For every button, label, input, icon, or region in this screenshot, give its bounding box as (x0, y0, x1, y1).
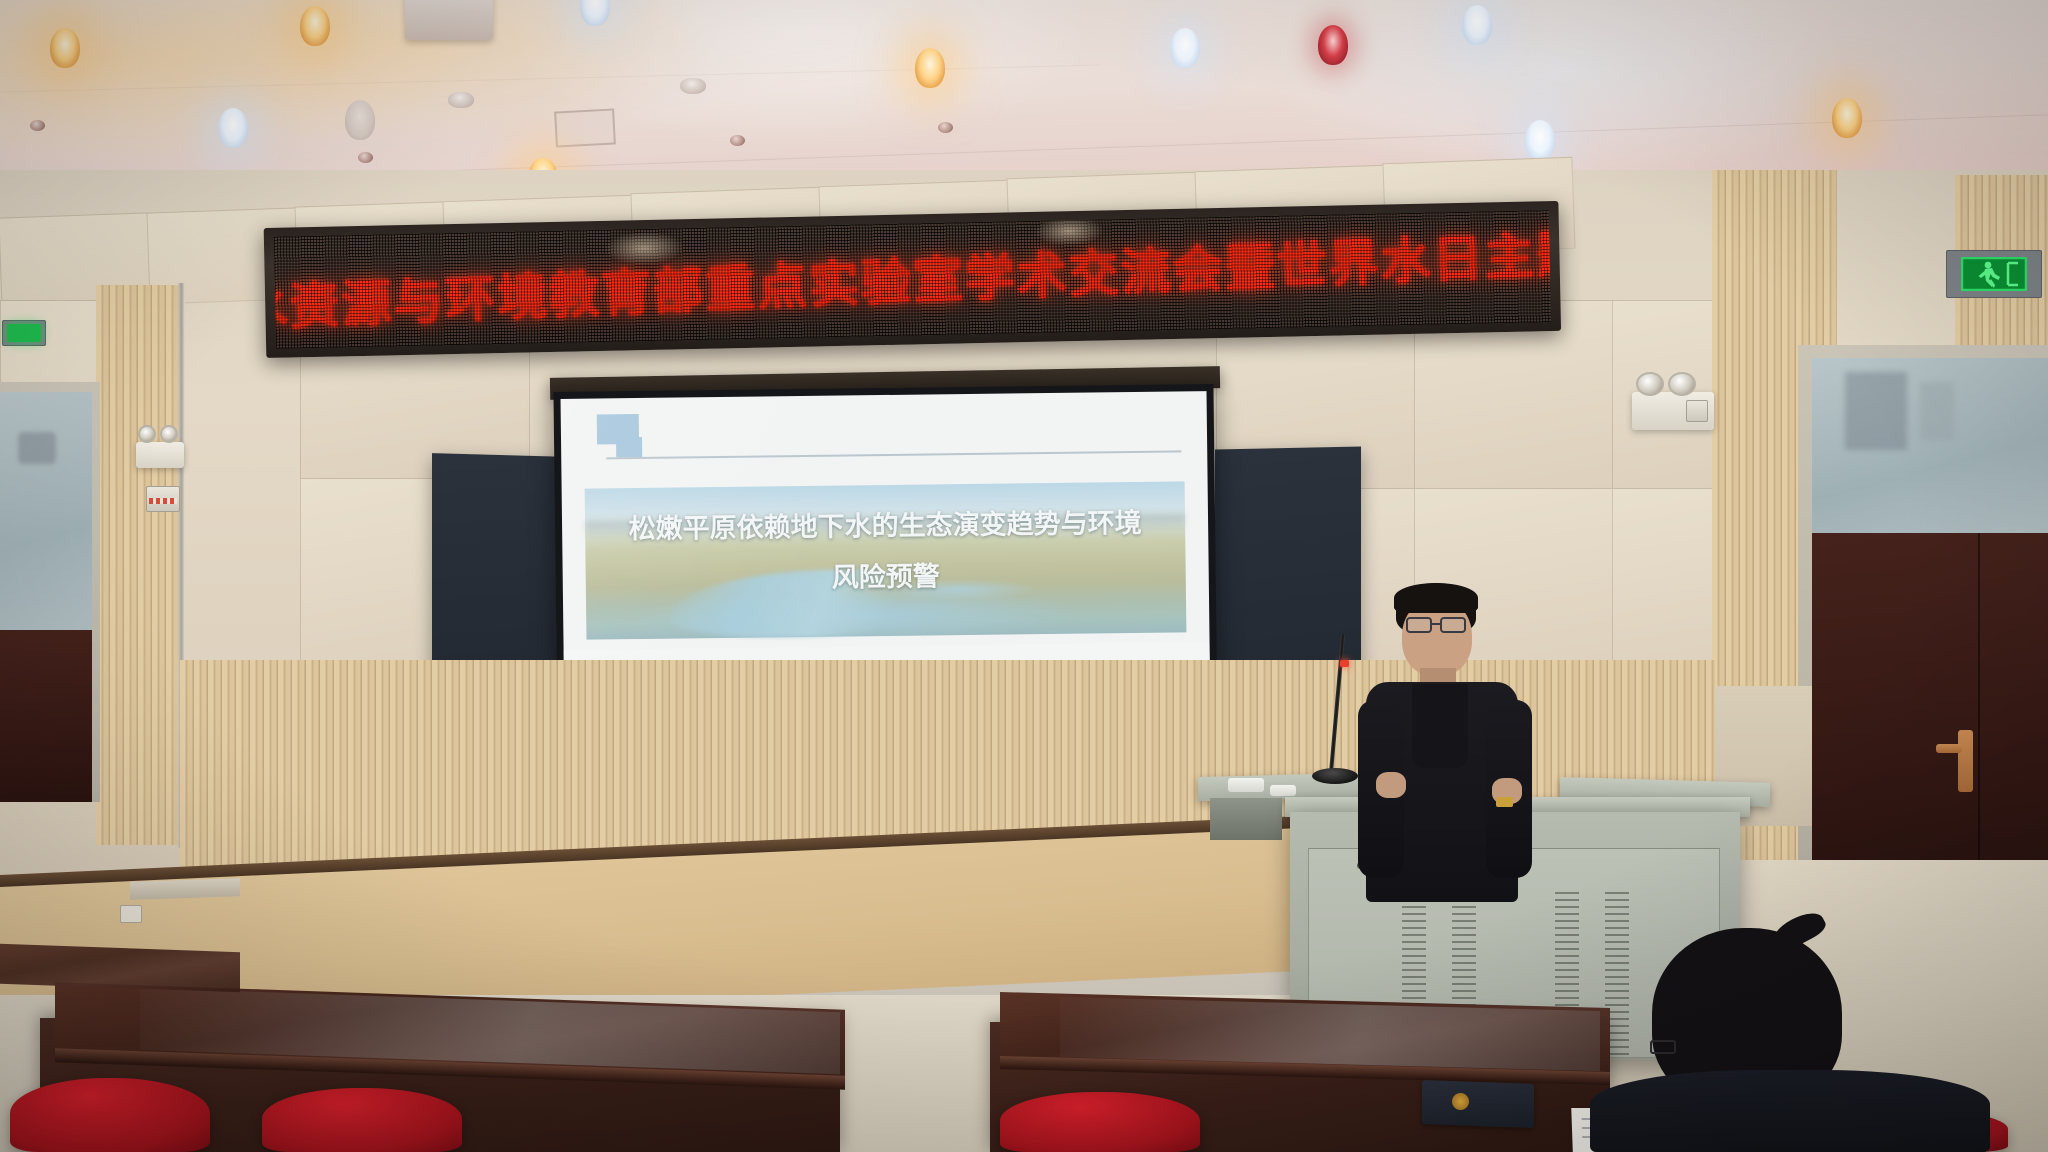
lecture-hall-photo: 地下水资源与环境教育部重点实验室学术交流会暨世界水日主题活动 松嫩平原依赖地下水… (0, 0, 2048, 1152)
right-door-panel[interactable] (1812, 533, 2048, 865)
emergency-lamp-right (1668, 372, 1696, 396)
emergency-lamp-left (138, 425, 156, 443)
ceiling-projector-mount (405, 0, 493, 40)
podium-keyboard-tray-left[interactable] (1210, 798, 1282, 840)
audience-chair[interactable] (262, 1088, 462, 1152)
slide-title-line-2: 风险预警 (562, 548, 1209, 607)
audience-chair[interactable] (10, 1078, 210, 1152)
led-banner: 地下水资源与环境教育部重点实验室学术交流会暨世界水日主题活动 (264, 201, 1561, 358)
right-door-handle[interactable] (1958, 730, 1973, 792)
exit-icon-left (7, 324, 41, 342)
led-banner-screen: 地下水资源与环境教育部重点实验室学术交流会暨世界水日主题活动 (274, 210, 1551, 349)
wall-socket[interactable] (120, 905, 142, 923)
wall-panel (1612, 488, 1722, 678)
emergency-light-test-panel[interactable] (1686, 400, 1708, 422)
wood-slat-wall-left (96, 285, 182, 845)
presenter-inner-shirt (1412, 684, 1468, 768)
audience-desk-back-left (0, 944, 240, 992)
microphone-indicator-light (1340, 660, 1349, 667)
emergency-light-left (136, 442, 184, 468)
exit-sign-left (2, 320, 46, 346)
ceiling-downlight-off (345, 100, 375, 140)
ceiling-indicator-light (1318, 25, 1348, 65)
presenter-glasses-bridge (1432, 623, 1440, 625)
right-door-silhouette (1845, 372, 1907, 450)
audience-chair[interactable] (1000, 1092, 1200, 1152)
presentation-remote[interactable] (1228, 778, 1264, 792)
microphone-base (1312, 768, 1358, 784)
slide-title-block: 松嫩平原依赖地下水的生态演变趋势与环境 风险预警 (562, 497, 1209, 607)
presenter-hair-top (1394, 583, 1478, 613)
ceiling-downlight-cool (1170, 28, 1200, 68)
attendee-glasses (1650, 1040, 1676, 1054)
control-panel-switches[interactable] (149, 498, 177, 504)
smoke-detector (448, 92, 474, 108)
left-door-glass (0, 392, 92, 632)
stage-step (130, 878, 240, 900)
presenter-left-hand (1376, 772, 1406, 798)
notebook (1422, 1080, 1534, 1128)
ceiling-downlight-warm (1832, 98, 1862, 138)
emergency-lamp-right (1636, 372, 1664, 396)
sprinkler-head (30, 120, 45, 131)
smoke-detector (680, 78, 706, 94)
ceiling-downlight-cool (1462, 5, 1492, 45)
slide-title-line-1: 松嫩平原依赖地下水的生态演变趋势与环境 (562, 497, 1209, 556)
slide-accent-square-small (616, 437, 642, 457)
notebook-emblem (1452, 1093, 1469, 1110)
ceiling-downlight-warm (915, 48, 945, 88)
ceiling-downlight-cool (1525, 120, 1555, 160)
right-door-lever[interactable] (1936, 744, 1962, 753)
ceiling-vent (554, 108, 616, 147)
emergency-lamp-left (160, 425, 178, 443)
ceiling-downlight-cool (218, 108, 248, 148)
right-door-silhouette (1920, 382, 1954, 440)
sprinkler-head (730, 135, 745, 146)
sprinkler-head (938, 122, 953, 133)
left-door-panel (0, 630, 92, 802)
led-banner-text: 地下水资源与环境教育部重点实验室学术交流会暨世界水日主题活动 (274, 210, 1551, 345)
presenter-held-object (1496, 797, 1513, 807)
presenter-glasses-right-lens (1440, 617, 1466, 633)
right-door-seam (1978, 533, 1980, 865)
attendee-torso (1590, 1070, 1990, 1152)
left-door-silhouette (18, 432, 56, 464)
exit-sign-right (1946, 250, 2042, 298)
remote-secondary[interactable] (1270, 785, 1296, 796)
ceiling-downlight-warm (50, 28, 80, 68)
exit-running-man-icon (1961, 257, 2027, 291)
sprinkler-head (358, 152, 373, 163)
ceiling-downlight-warm (300, 6, 330, 46)
slide-divider-line (606, 451, 1181, 460)
presenter-glasses-left-lens (1406, 617, 1432, 633)
